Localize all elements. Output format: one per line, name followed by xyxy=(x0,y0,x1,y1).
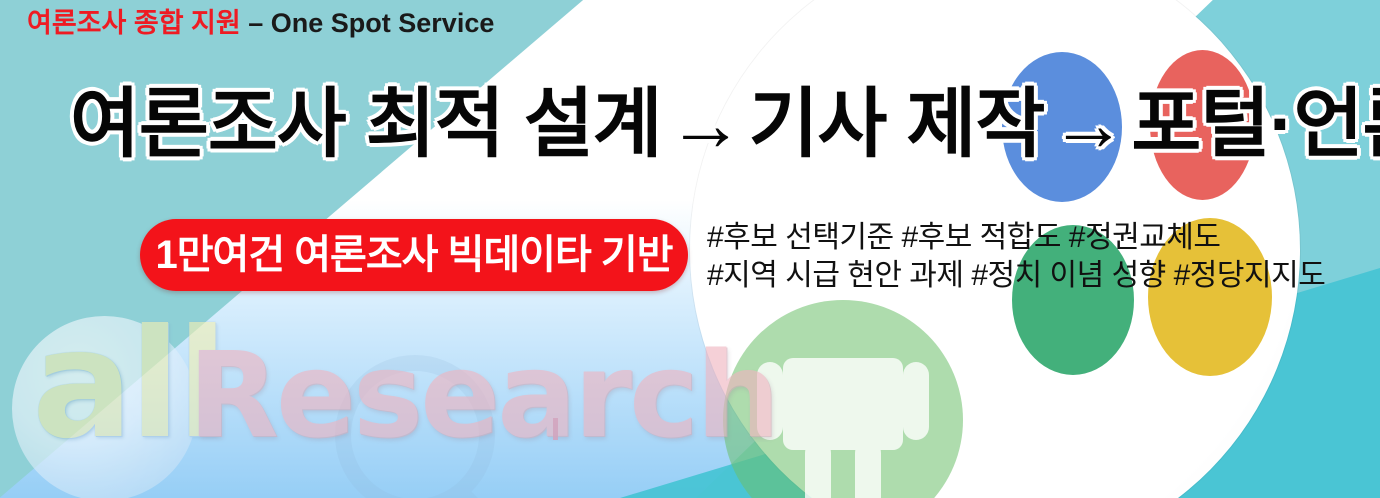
arrow-right-icon-1: → xyxy=(662,82,749,167)
eyebrow-english: One Spot Service xyxy=(271,8,495,38)
eyebrow-line: 여론조사 종합 지원 – One Spot Service xyxy=(27,8,494,39)
headline-step-2: 기사 제작 xyxy=(749,82,1045,167)
logo-text-research: Research xyxy=(188,336,777,454)
allresearch-logo: all Research xyxy=(10,320,580,495)
arrow-right-icon-2: → xyxy=(1044,82,1131,167)
eyebrow-korean: 여론조사 종합 지원 xyxy=(27,8,241,38)
hashtag-line-1: #후보 선택기준 #후보 적합도 #정권교체도 xyxy=(707,219,1357,257)
hashtag-line-2: #지역 시급 현안 과제 #정치 이념 성향 #정당지지도 xyxy=(707,257,1357,295)
headline: 여론조사 최적 설계→기사 제작→포털·언론사 보도 xyxy=(70,82,1360,167)
logo-trailing-mark xyxy=(553,418,558,440)
headline-step-1: 여론조사 최적 설계 xyxy=(70,82,662,167)
eyebrow-separator: – xyxy=(241,8,271,38)
bigdata-badge: 1만여건 여론조사 빅데이타 기반 xyxy=(140,219,688,291)
hashtag-list: #후보 선택기준 #후보 적합도 #정권교체도 #지역 시급 현안 과제 #정치… xyxy=(707,219,1357,296)
headline-step-3: 포털·언론사 보도 xyxy=(1131,82,1380,167)
bigdata-badge-label: 1만여건 여론조사 빅데이타 기반 xyxy=(156,235,673,275)
promotional-banner: all Research 여론조사 종합 지원 – One Spot Servi… xyxy=(0,0,1380,498)
